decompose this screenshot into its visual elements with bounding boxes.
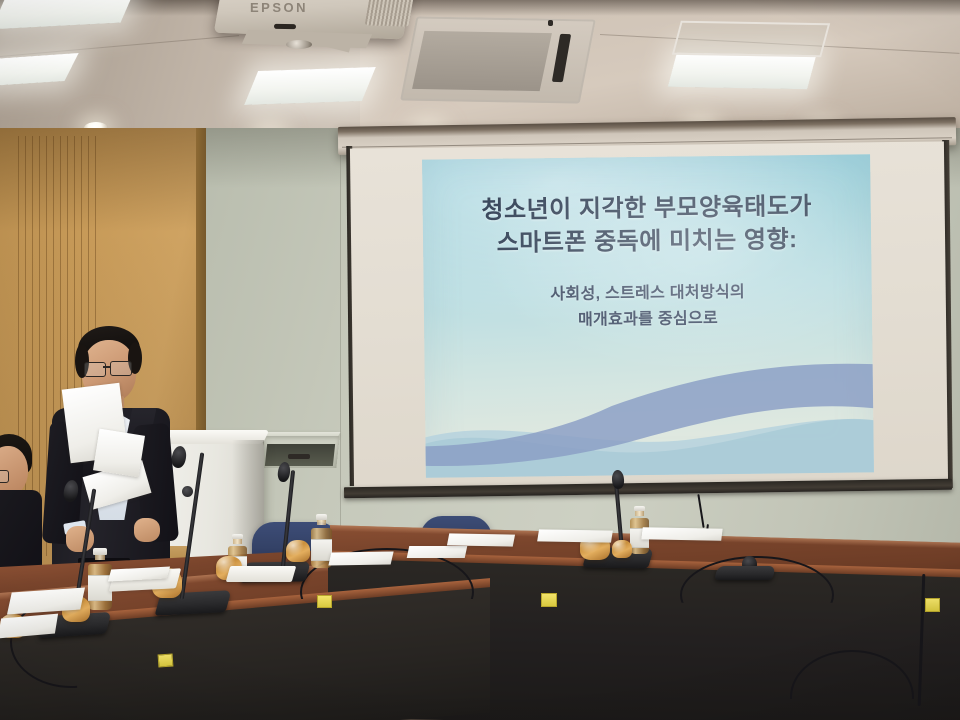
slide-title-line-2: 스마트폰 중독에 미치는 영향:: [423, 222, 871, 262]
table-papers-4: [328, 551, 393, 565]
presenter-glasses-left-lens-icon: [84, 362, 106, 377]
ceiling-top-shadow: [0, 0, 960, 16]
slide-title-block: 청소년이 지각한 부모양육태도가 스마트폰 중독에 미치는 영향:: [423, 190, 872, 262]
ceiling-panel-frame: [672, 21, 830, 58]
ac-vent-grille: [412, 31, 552, 91]
projector-brand-label: EPSON: [250, 0, 308, 15]
presenter-hand-left: [134, 518, 160, 542]
table-sticker-4: [925, 598, 940, 612]
presenter-held-paper-3: [93, 429, 145, 478]
snack-package-6: [612, 540, 632, 558]
projector-vent-icon: [365, 0, 416, 27]
microphone-joint-1: [182, 486, 193, 497]
table-papers-7: [537, 529, 613, 542]
wall-cabinet-handle: [288, 454, 310, 459]
snack-package-4: [286, 540, 310, 562]
conference-room-photo: EPSON 청소년이 지각한 부모양육태도가 스마트폰 중독에 미치는 영향:: [0, 0, 960, 720]
table-papers-5: [407, 546, 468, 558]
presenter-glasses-right-lens-icon: [110, 361, 132, 376]
ac-vent-sensor: [548, 20, 553, 26]
table-papers-8: [641, 527, 722, 540]
slide-wave-dark-icon: [422, 358, 874, 478]
presentation-slide: 청소년이 지각한 부모양육태도가 스마트폰 중독에 미치는 영향: 사회성, 스…: [422, 154, 874, 477]
microphone-base-5[interactable]: [714, 566, 775, 580]
seated-attendee-glasses-icon: [0, 470, 9, 483]
paper-tray-2: [226, 566, 297, 582]
bottle-cap-4: [634, 506, 645, 511]
projector-slot: [274, 24, 296, 29]
slide-subtitle-block: 사회성, 스트레스 대처방식의 매개효과를 중심으로: [424, 278, 873, 335]
table-sticker-3: [541, 593, 557, 607]
table-papers-6: [447, 533, 515, 546]
bottle-cap-3: [232, 534, 243, 539]
slide-title-line-1: 청소년이 지각한 부모양육태도가: [423, 190, 871, 228]
bottle-label-2: [311, 539, 332, 562]
ceiling-panel-light-3: [244, 67, 376, 105]
green-wall-seam-vertical: [340, 128, 341, 558]
ceiling-panel-light-4: [668, 53, 816, 89]
table-sticker-1: [158, 653, 174, 667]
slide-subtitle-line-2: 매개효과를 중심으로: [424, 304, 872, 335]
bottle-cap-2: [316, 514, 328, 520]
projector-lens-icon: [286, 40, 312, 49]
bottle-cap-1: [93, 548, 106, 555]
presenter-glasses-bridge: [103, 366, 111, 368]
